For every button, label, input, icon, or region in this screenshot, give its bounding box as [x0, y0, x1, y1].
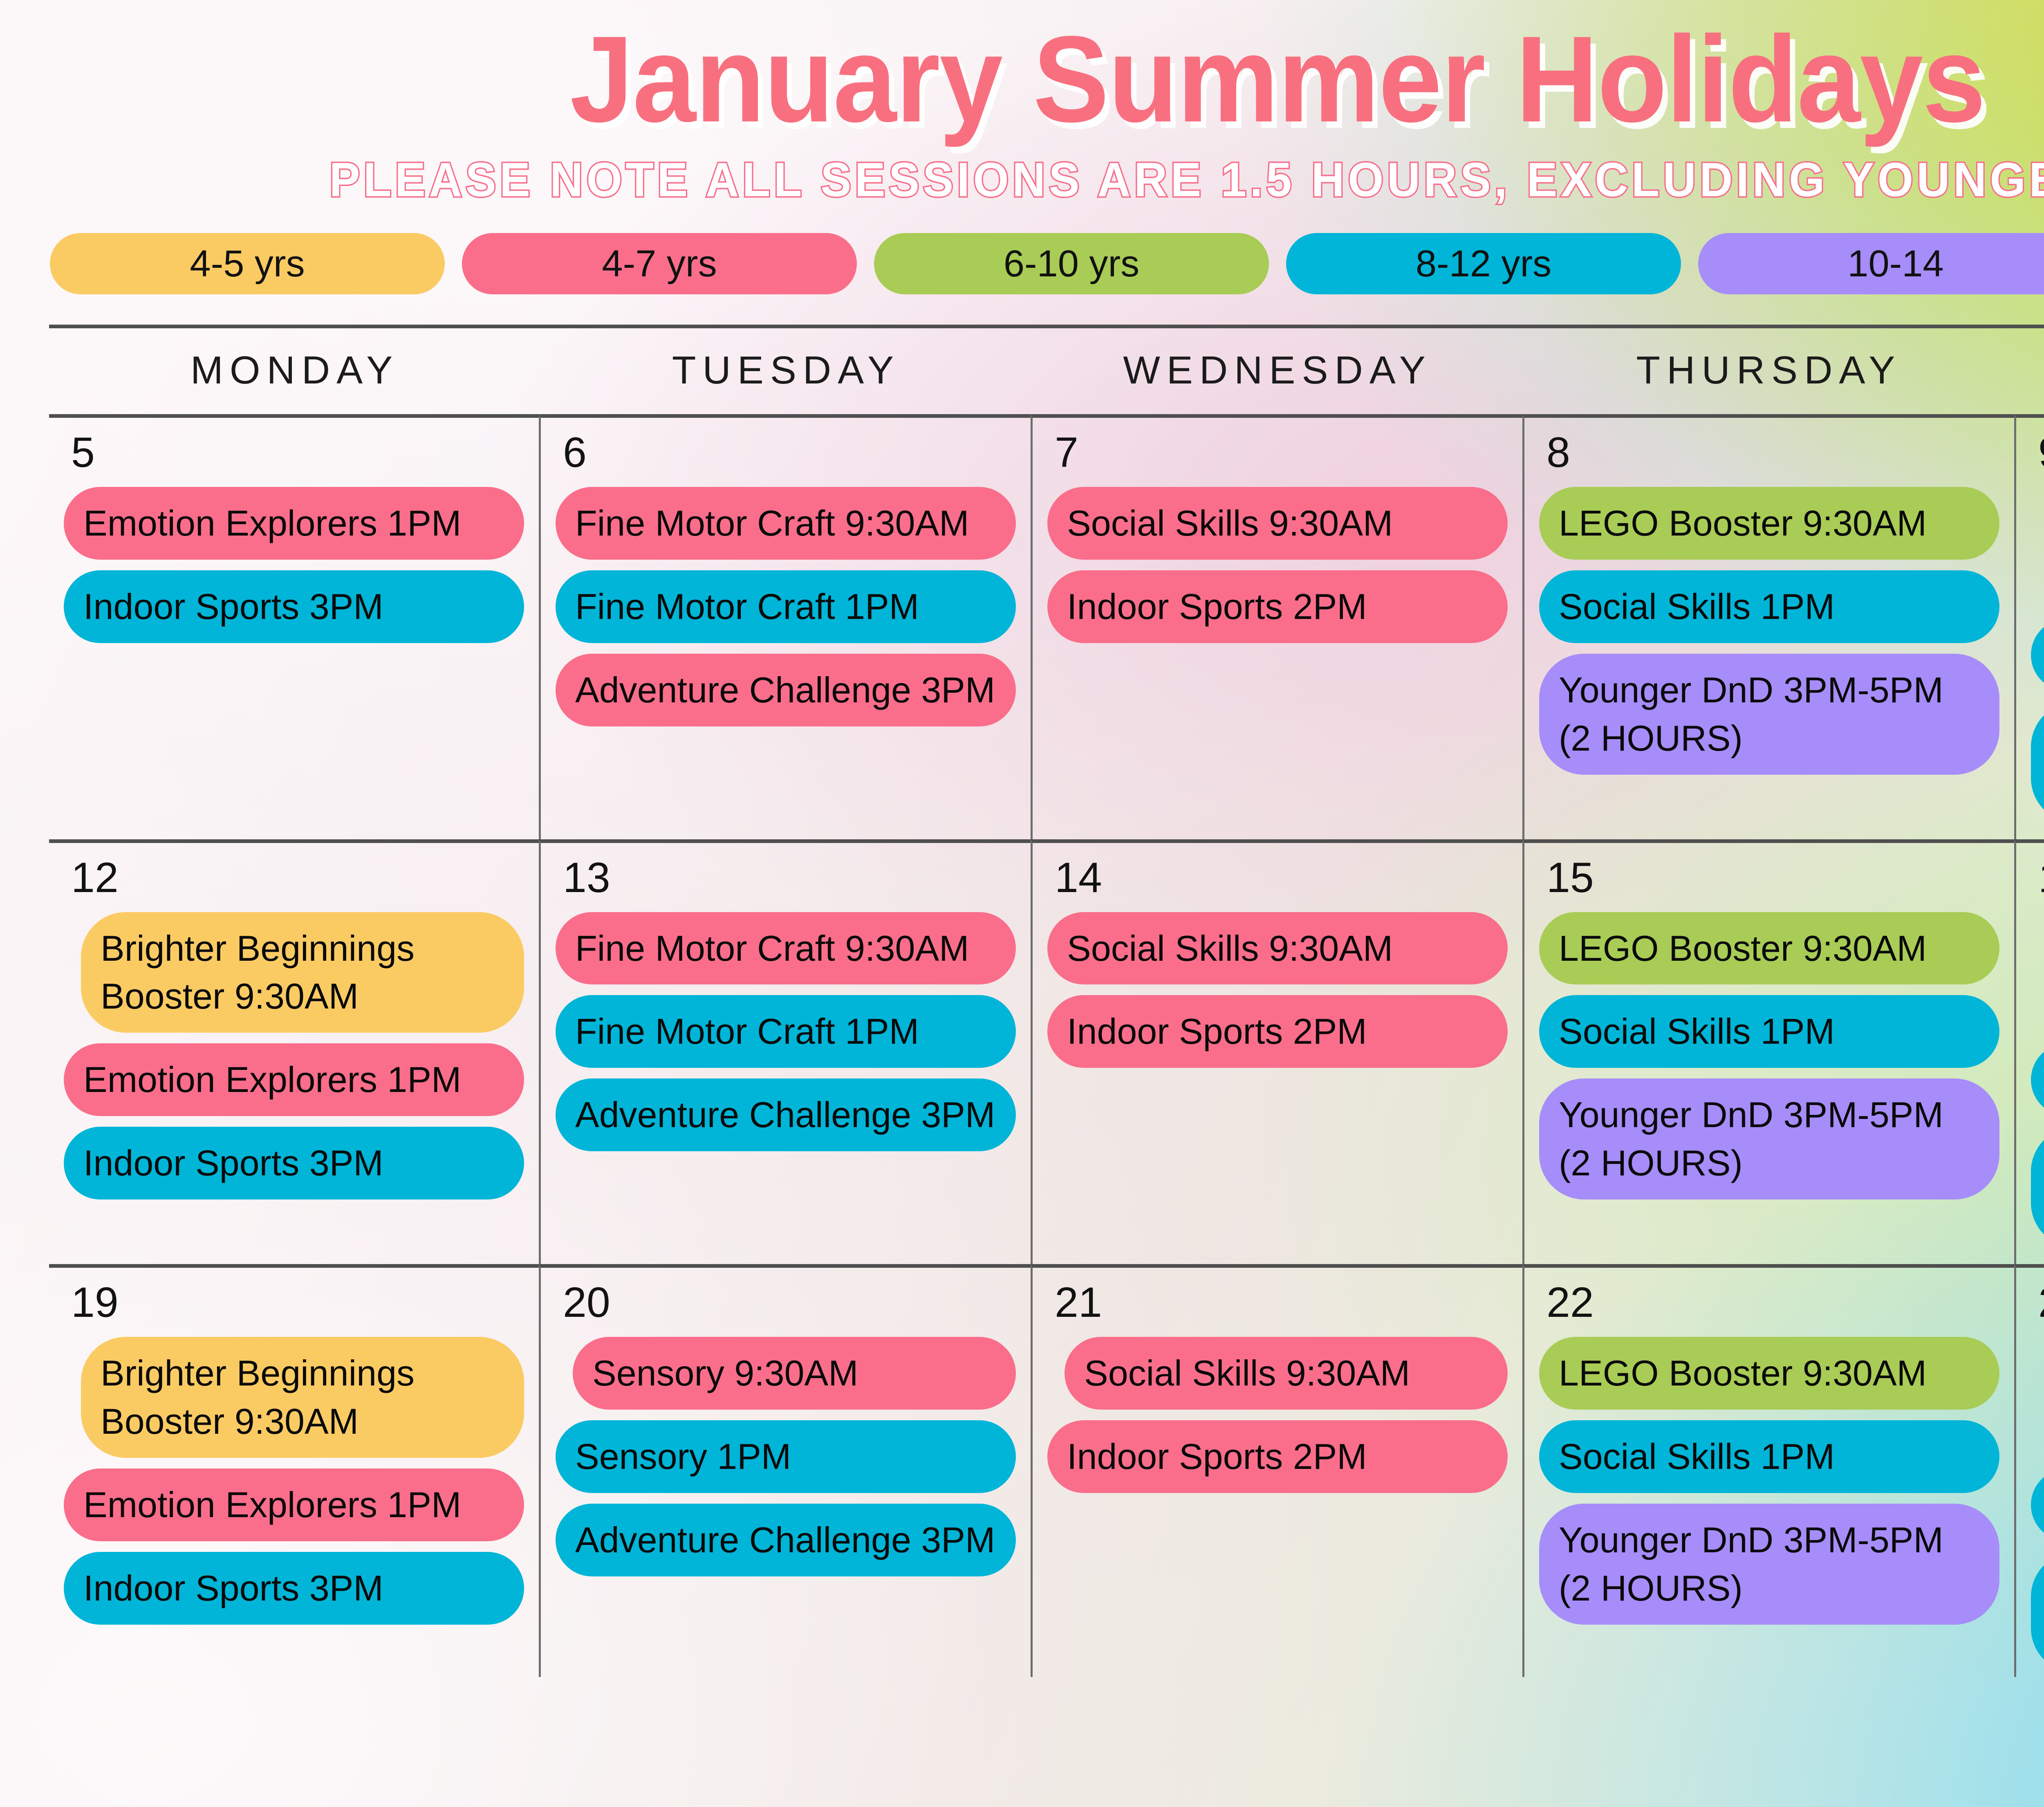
day-number: 14	[1055, 854, 1508, 902]
day-header-thursday: THURSDAY	[1523, 328, 2015, 414]
event-pill[interactable]: Younger DnD 3PM-5PM (2 HOURS)	[1539, 1078, 1999, 1199]
event-pill[interactable]: Indoor Sports 2PM	[1047, 1420, 1508, 1493]
event-list: Social Skills 9:30AMIndoor Sports 2PM	[1047, 1337, 1508, 1493]
event-pill[interactable]: Indoor Sports 3PM	[64, 570, 524, 643]
event-pill[interactable]: Emotion Explorers 1PM	[2031, 1043, 2044, 1116]
event-pill[interactable]: Fine Motor Craft 9:30AM	[556, 912, 1016, 985]
event-pill[interactable]: Sensory 1PM	[556, 1420, 1016, 1493]
day-cell-20[interactable]: 20Sensory 9:30AMSensory 1PMAdventure Cha…	[539, 1264, 1031, 1677]
event-list: Social Skills 9:30AMIndoor Sports 2PM	[1047, 487, 1508, 643]
event-list: Social Skills 9:30AMIndoor Sports 2PM	[1047, 912, 1508, 1068]
event-list: Brighter Beginnings Booster 9:30AMEmotio…	[64, 912, 524, 1200]
event-pill[interactable]: Indoor Sports 3PM	[64, 1552, 524, 1625]
event-pill[interactable]: Fine Motor Craft 1PM	[556, 570, 1016, 643]
day-number: 7	[1055, 428, 1508, 477]
week-row: 12Brighter Beginnings Booster 9:30AMEmot…	[49, 839, 2044, 1264]
day-number: 20	[563, 1278, 1016, 1327]
week-row: 5Emotion Explorers 1PMIndoor Sports 3PM6…	[49, 414, 2044, 839]
event-pill[interactable]: Emotion Explorers 1PM	[2031, 619, 2044, 691]
day-cell-16[interactable]: 16Adventure Challenge 9:30AMEmotion Expl…	[2014, 839, 2044, 1264]
event-list: Brighter Beginnings Booster 9:30AMEmotio…	[64, 1337, 524, 1625]
day-number: 23	[2038, 1278, 2044, 1327]
day-number: 22	[1546, 1278, 1999, 1327]
page-subtitle: PLEASE NOTE ALL SESSIONS ARE 1.5 HOURS, …	[64, 141, 2044, 208]
event-pill[interactable]: Brighter Beginnings Booster 9:30AM	[81, 1337, 524, 1458]
event-pill[interactable]: Adventure Challenge 3PM	[556, 1504, 1016, 1576]
event-pill[interactable]: Emotion Explorers 1PM	[2031, 1468, 2044, 1541]
age-group-legend: 4-5 yrs4-7 yrs6-10 yrs8-12 yrs10-1413yrs…	[50, 233, 2044, 294]
day-number: 6	[563, 428, 1016, 477]
day-number: 8	[1546, 428, 1999, 477]
calendar-poster: January Summer Holidays PLEASE NOTE ALL …	[0, 0, 2044, 1807]
event-pill[interactable]: Sensory 9:30AM	[573, 1337, 1016, 1410]
event-pill[interactable]: Indoor Sports 2PM	[1047, 570, 1508, 643]
event-pill[interactable]: Social Skills 9:30AM	[1065, 1337, 1508, 1410]
day-cell-13[interactable]: 13Fine Motor Craft 9:30AMFine Motor Craf…	[539, 839, 1031, 1264]
day-header-friday: FRIDAY	[2015, 328, 2044, 414]
event-list: LEGO Booster 9:30AMSocial Skills 1PMYoun…	[1539, 487, 1999, 775]
event-pill[interactable]: Adventure Challenge 3PM	[556, 1078, 1016, 1151]
event-pill[interactable]: Creative Connections 3:30PM	[2031, 1127, 2044, 1248]
page-title: January Summer Holidays	[90, 0, 2044, 141]
event-pill[interactable]: Indoor Sports 3PM	[64, 1127, 524, 1199]
day-cell-6[interactable]: 6Fine Motor Craft 9:30AMFine Motor Craft…	[539, 414, 1031, 839]
event-pill[interactable]: LEGO Booster 9:30AM	[1539, 487, 1999, 560]
event-pill[interactable]: LEGO Booster 9:30AM	[1539, 912, 1999, 985]
day-cell-9[interactable]: 9Brighter Beginnings Booster 9:30AMEmoti…	[2014, 414, 2044, 839]
event-list: LEGO Booster 9:30AMSocial Skills 1PMYoun…	[1539, 1337, 1999, 1625]
event-pill[interactable]: Creative Connections 3:30PM	[2031, 1552, 2044, 1673]
day-header-wednesday: WEDNESDAY	[1032, 328, 1523, 414]
event-pill[interactable]: Social Skills 1PM	[1539, 1420, 1999, 1493]
event-pill[interactable]: Creative Connections 3:30PM	[2031, 702, 2044, 823]
legend-chip-4-5-yrs: 4-5 yrs	[50, 233, 445, 294]
day-cell-5[interactable]: 5Emotion Explorers 1PMIndoor Sports 3PM	[49, 414, 539, 839]
event-pill[interactable]: Younger DnD 3PM-5PM (2 HOURS)	[1539, 654, 1999, 775]
event-pill[interactable]: Adventure Challenge 3PM	[556, 654, 1016, 726]
event-list: Adventure Challenge 9:30AMEmotion Explor…	[2031, 912, 2044, 1248]
day-number: 9	[2038, 428, 2044, 477]
day-cell-8[interactable]: 8LEGO Booster 9:30AMSocial Skills 1PMYou…	[1522, 414, 2014, 839]
event-pill[interactable]: Social Skills 9:30AM	[1047, 487, 1508, 560]
legend-chip-6-10-yrs: 6-10 yrs	[874, 233, 1269, 294]
event-pill[interactable]: Brighter Beginnings Booster 9:30AM	[81, 912, 524, 1033]
day-cell-12[interactable]: 12Brighter Beginnings Booster 9:30AMEmot…	[49, 839, 539, 1264]
event-list: LEGO Booster 9:30AMSocial Skills 1PMYoun…	[1539, 912, 1999, 1200]
calendar-grid: MONDAYTUESDAYWEDNESDAYTHURSDAYFRIDAY 5Em…	[49, 325, 2044, 1677]
event-pill[interactable]: Emotion Explorers 1PM	[64, 487, 524, 560]
event-pill[interactable]: Fine Motor Craft 9:30AM	[556, 487, 1016, 560]
day-number: 16	[2038, 854, 2044, 902]
legend-chip-4-7-yrs: 4-7 yrs	[462, 233, 857, 294]
day-cell-23[interactable]: 23Adventure Challenge 9:30AMEmotion Expl…	[2014, 1264, 2044, 1677]
day-number: 19	[71, 1278, 524, 1327]
event-pill[interactable]: Social Skills 1PM	[1539, 995, 1999, 1068]
day-cell-7[interactable]: 7Social Skills 9:30AMIndoor Sports 2PM	[1031, 414, 1522, 839]
legend-chip-10-14: 10-14	[1698, 233, 2044, 294]
day-header-row: MONDAYTUESDAYWEDNESDAYTHURSDAYFRIDAY	[49, 328, 2044, 414]
day-cell-19[interactable]: 19Brighter Beginnings Booster 9:30AMEmot…	[49, 1264, 539, 1677]
event-pill[interactable]: Social Skills 1PM	[1539, 570, 1999, 643]
event-pill[interactable]: Emotion Explorers 1PM	[64, 1468, 524, 1541]
day-header-monday: MONDAY	[49, 328, 540, 414]
event-pill[interactable]: Emotion Explorers 1PM	[64, 1043, 524, 1116]
day-header-tuesday: TUESDAY	[540, 328, 1032, 414]
event-pill[interactable]: Fine Motor Craft 1PM	[556, 995, 1016, 1068]
day-cell-15[interactable]: 15LEGO Booster 9:30AMSocial Skills 1PMYo…	[1522, 839, 2014, 1264]
event-list: Emotion Explorers 1PMIndoor Sports 3PM	[64, 487, 524, 643]
event-list: Adventure Challenge 9:30AMEmotion Explor…	[2031, 1337, 2044, 1673]
day-cell-21[interactable]: 21Social Skills 9:30AMIndoor Sports 2PM	[1031, 1264, 1522, 1677]
day-cell-22[interactable]: 22LEGO Booster 9:30AMSocial Skills 1PMYo…	[1522, 1264, 2014, 1677]
day-number: 13	[563, 854, 1016, 902]
week-row: 19Brighter Beginnings Booster 9:30AMEmot…	[49, 1264, 2044, 1677]
event-list: Brighter Beginnings Booster 9:30AMEmotio…	[2031, 487, 2044, 823]
event-pill[interactable]: Indoor Sports 2PM	[1047, 995, 1508, 1068]
day-number: 15	[1546, 854, 1999, 902]
event-list: Fine Motor Craft 9:30AMFine Motor Craft …	[556, 487, 1016, 726]
day-number: 12	[71, 854, 524, 902]
calendar-weeks: 5Emotion Explorers 1PMIndoor Sports 3PM6…	[49, 414, 2044, 1677]
event-pill[interactable]: LEGO Booster 9:30AM	[1539, 1337, 1999, 1410]
day-number: 5	[71, 428, 524, 477]
event-list: Sensory 9:30AMSensory 1PMAdventure Chall…	[556, 1337, 1016, 1576]
day-cell-14[interactable]: 14Social Skills 9:30AMIndoor Sports 2PM	[1031, 839, 1522, 1264]
event-pill[interactable]: Younger DnD 3PM-5PM (2 HOURS)	[1539, 1504, 1999, 1625]
day-number: 21	[1055, 1278, 1508, 1327]
legend-chip-8-12-yrs: 8-12 yrs	[1286, 233, 1681, 294]
event-pill[interactable]: Social Skills 9:30AM	[1047, 912, 1508, 985]
event-list: Fine Motor Craft 9:30AMFine Motor Craft …	[556, 912, 1016, 1152]
